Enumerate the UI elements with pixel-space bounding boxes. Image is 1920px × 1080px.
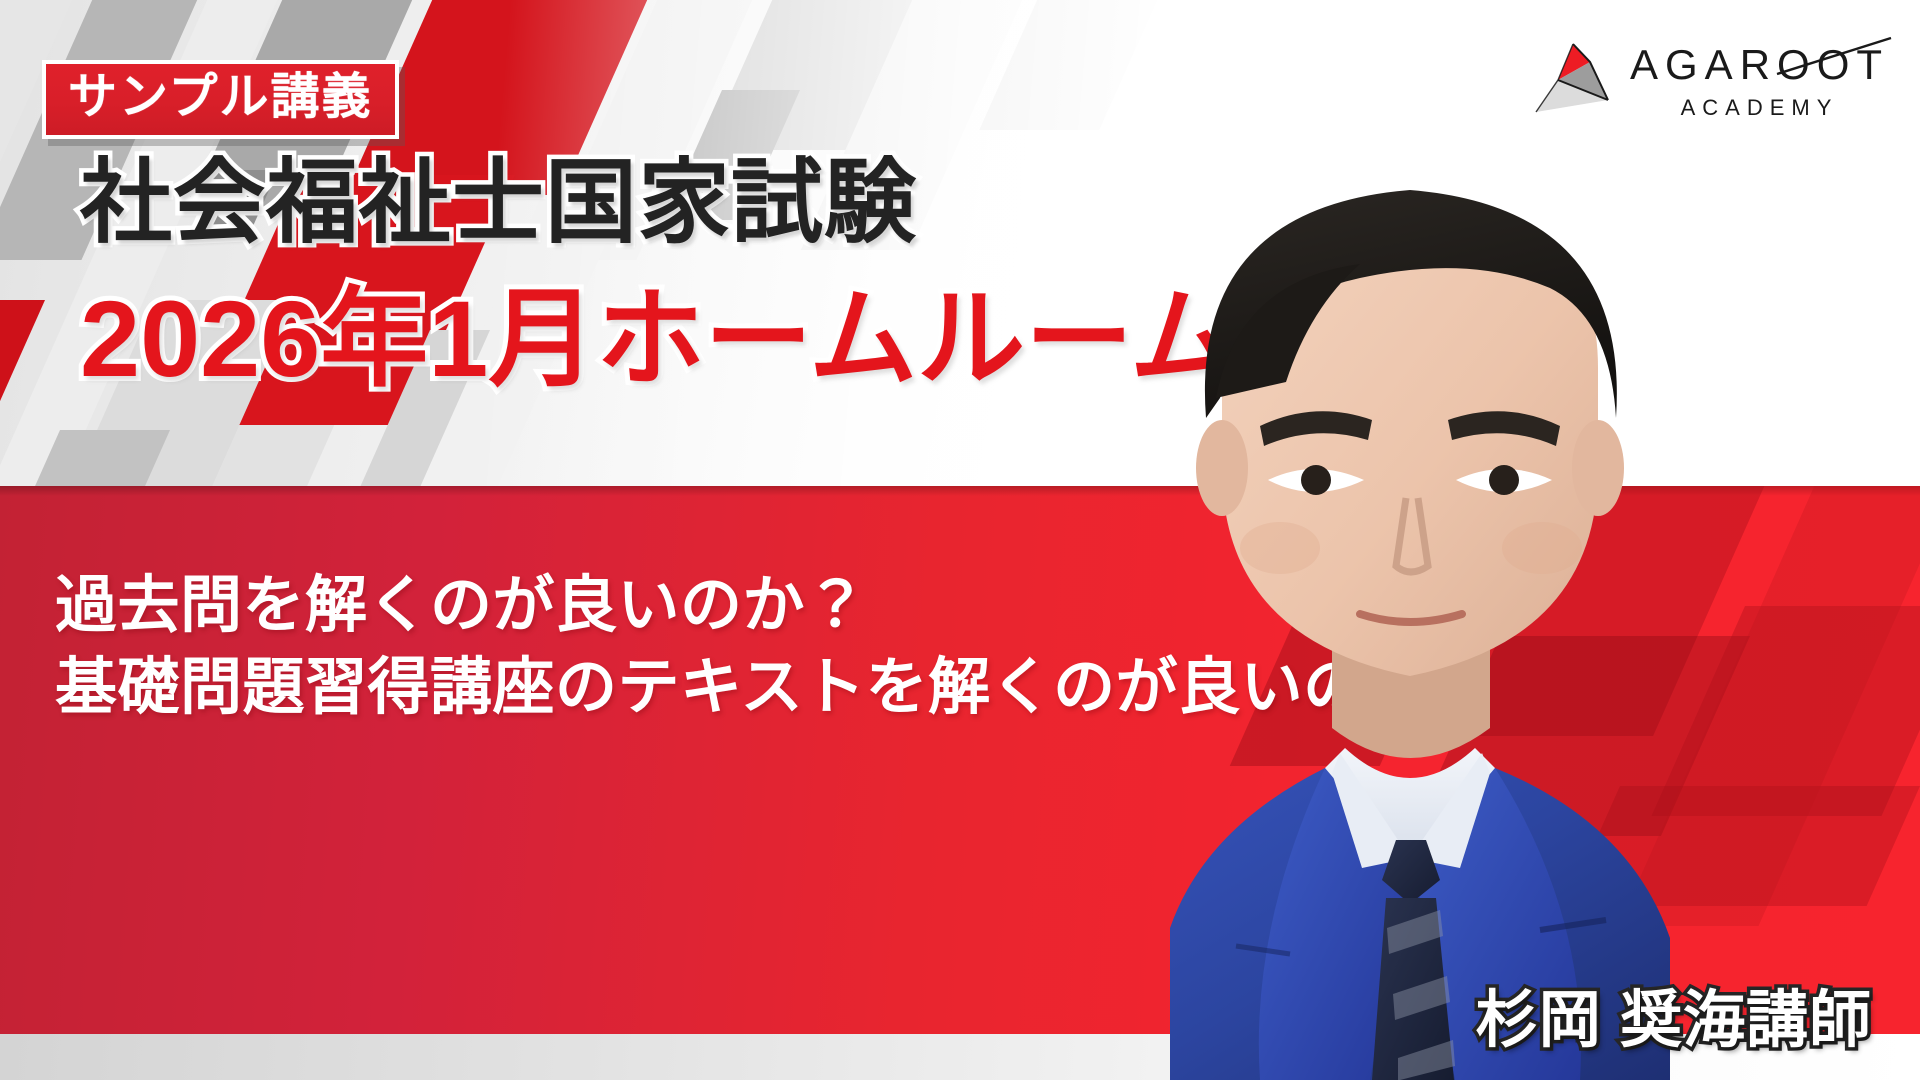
logo-brand-wrap: AGAROOT [1630, 44, 1889, 86]
ear-left [1196, 420, 1248, 516]
agaroot-academy-logo: AGAROOT ACADEMY [1530, 28, 1890, 132]
ear-right [1572, 420, 1624, 516]
presenter-photo [1110, 168, 1920, 1080]
eye-left [1301, 465, 1331, 495]
presenter-name: 杉岡 奨海講師 [1476, 990, 1872, 1052]
sample-lecture-badge: サンプル講義 [42, 60, 399, 139]
thumbnail-canvas: サンプル講義 社会福祉士国家試験 2026年1月ホームルーム 過去問を解くのが良… [0, 0, 1920, 1080]
logo-sub-text: ACADEMY [1681, 97, 1839, 119]
lecture-title: 2026年1月ホームルーム [80, 285, 1238, 393]
exam-title: 社会福祉士国家試験 [80, 157, 917, 249]
logo-strike-line-icon [1773, 34, 1895, 78]
agaroot-triangle-mark [1530, 40, 1616, 120]
logo-wordmark: AGAROOT ACADEMY [1630, 42, 1889, 119]
badge-label: サンプル講義 [68, 73, 373, 122]
eye-right [1489, 465, 1519, 495]
